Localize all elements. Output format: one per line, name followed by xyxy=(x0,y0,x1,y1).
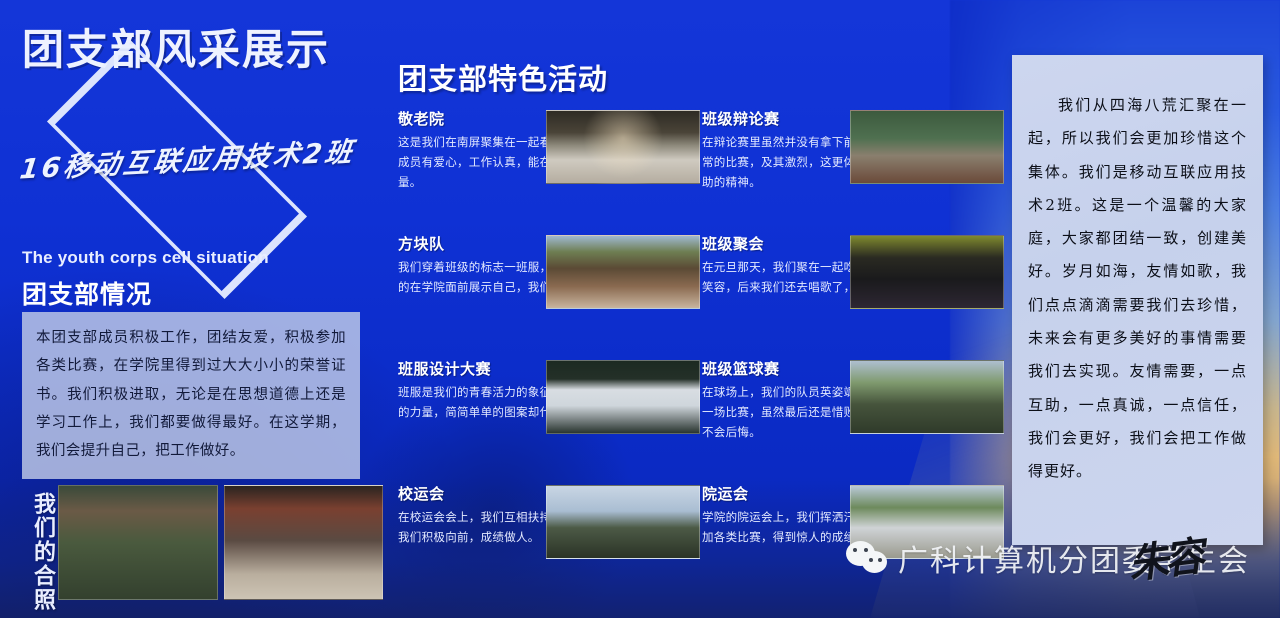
poster-canvas: 团支部风采展示 16移动互联应用技术2班 The youth corps cel… xyxy=(0,0,1280,618)
military-training-group-photo xyxy=(58,485,218,600)
class-letter-text: 我们从四海八荒汇聚在一起，所以我们会更加珍惜这个集体。我们是移动互联应用技术2班… xyxy=(1028,89,1247,489)
situation-paragraph: 本团支部成员积极工作，团结友爱，积极参加各类比赛，在学院里得到过大大小小的荣誉证… xyxy=(36,324,346,465)
activity-item: 敬老院 这是我们在南屏聚集在一起看望老人的事迹，我们团支部成员有爱心，工作认真，… xyxy=(398,108,698,226)
activity-item: 班级篮球赛 在球场上，我们的队员英姿飒爽，他们认真积极的对待每一场比赛，虽然最后… xyxy=(702,358,1002,476)
square-team-parade-photo xyxy=(546,235,700,309)
school-sports-meet-photo xyxy=(546,485,700,559)
activity-item: 校运会 在校运会会上，我们互相扶持，加油声从来没有间断过，我们积极向前，成绩做人… xyxy=(398,483,698,601)
section-subtitle-english: The youth corps cell situation xyxy=(22,248,269,268)
activity-item: 方块队 我们穿着班级的标志一班服，在院运会开幕式上整齐华丽的在学院面前展示自己，… xyxy=(398,233,698,351)
handwritten-signature: 朱容 xyxy=(1125,524,1204,590)
class-basketball-match-photo xyxy=(850,360,1004,434)
left-column: 团支部风采展示 16移动互联应用技术2班 The youth corps cel… xyxy=(0,0,390,618)
activity-item: 班级辩论赛 在辩论赛里虽然并没有拿下前三甲，但是也打出了非比寻常的比赛，及其激烈… xyxy=(702,108,1002,226)
class-debate-contest-photo xyxy=(850,110,1004,184)
section-subtitle-chinese: 团支部情况 xyxy=(22,275,152,311)
uniform-design-contest-photo xyxy=(546,360,700,434)
activities-column-right: 班级辩论赛 在辩论赛里虽然并没有拿下前三甲，但是也打出了非比寻常的比赛，及其激烈… xyxy=(702,108,1002,608)
situation-text-box: 本团支部成员积极工作，团结友爱，积极参加各类比赛，在学院里得到过大大小小的荣誉证… xyxy=(22,312,360,479)
nursing-home-visit-photo xyxy=(546,110,700,184)
group-photo-strip xyxy=(58,485,383,600)
activities-title: 团支部特色活动 xyxy=(398,56,608,98)
class-gathering-group-photo xyxy=(224,485,384,600)
class-party-hotpot-photo xyxy=(850,235,1004,309)
page-title: 团支部风采展示 xyxy=(22,16,330,77)
activity-item: 班级聚会 在元旦那天，我们聚在一起吃火锅，每个人流露出幸福的笑容，后来我们还去唱… xyxy=(702,233,1002,351)
group-photo-label: 我们的合照 xyxy=(28,492,54,612)
activities-column-left: 敬老院 这是我们在南屏聚集在一起看望老人的事迹，我们团支部成员有爱心，工作认真，… xyxy=(398,108,698,608)
activity-item: 班服设计大赛 班服是我们的青春活力的象征，它会给我们带来一种集体的力量，简简单单… xyxy=(398,358,698,476)
class-letter-panel: 我们从四海八荒汇聚在一起，所以我们会更加珍惜这个集体。我们是移动互联应用技术2班… xyxy=(1012,55,1263,545)
wechat-icon xyxy=(846,541,890,575)
